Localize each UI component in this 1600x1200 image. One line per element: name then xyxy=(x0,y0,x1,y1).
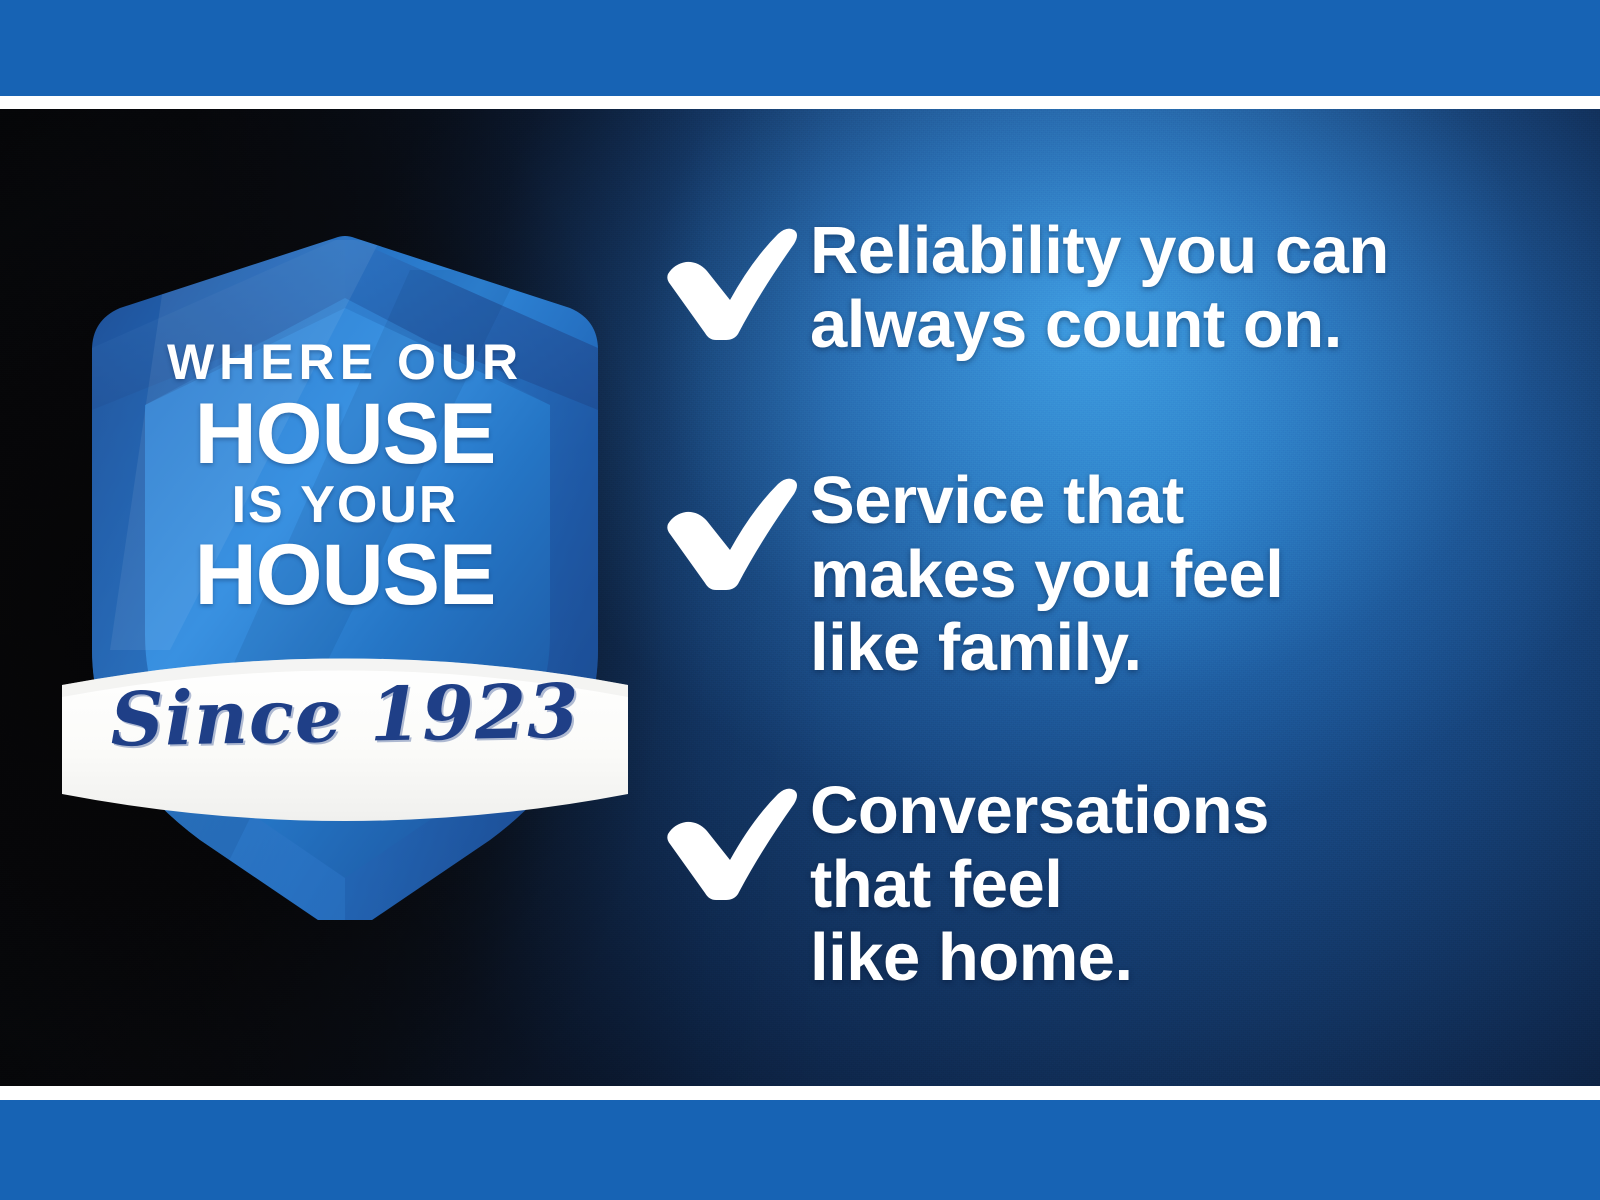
benefit-text-2: Service that makes you feel like family. xyxy=(810,464,1283,685)
shield-headline: WHERE OUR HOUSE IS YOUR HOUSE xyxy=(50,180,640,650)
checkmark-icon xyxy=(660,464,810,590)
benefit-text-3: Conversations that feel like home. xyxy=(810,774,1269,995)
benefit-item-1: Reliability you can always count on. xyxy=(660,214,1389,361)
checkmark-icon xyxy=(660,774,810,900)
benefit-text-1: Reliability you can always count on. xyxy=(810,214,1389,361)
top-white-divider xyxy=(0,96,1600,109)
benefit-item-2: Service that makes you feel like family. xyxy=(660,464,1283,685)
bottom-white-divider xyxy=(0,1086,1600,1100)
shield-line-2: HOUSE xyxy=(195,393,496,476)
shield-line-3: IS YOUR xyxy=(232,480,459,530)
promo-poster: WHERE OUR HOUSE IS YOUR HOUSE Since 1923… xyxy=(0,0,1600,1200)
checkmark-icon xyxy=(660,214,810,340)
benefit-item-3: Conversations that feel like home. xyxy=(660,774,1269,995)
benefit-list: Reliability you can always count on. Ser… xyxy=(660,109,1540,1086)
shield-line-1: WHERE OUR xyxy=(167,338,523,387)
since-year-script: Since 1923 xyxy=(49,667,641,764)
top-brand-bar xyxy=(0,0,1600,96)
shield-line-4: HOUSE xyxy=(195,534,496,617)
shield-emblem: WHERE OUR HOUSE IS YOUR HOUSE Since 1923 xyxy=(50,180,640,920)
bottom-brand-bar xyxy=(0,1100,1600,1200)
